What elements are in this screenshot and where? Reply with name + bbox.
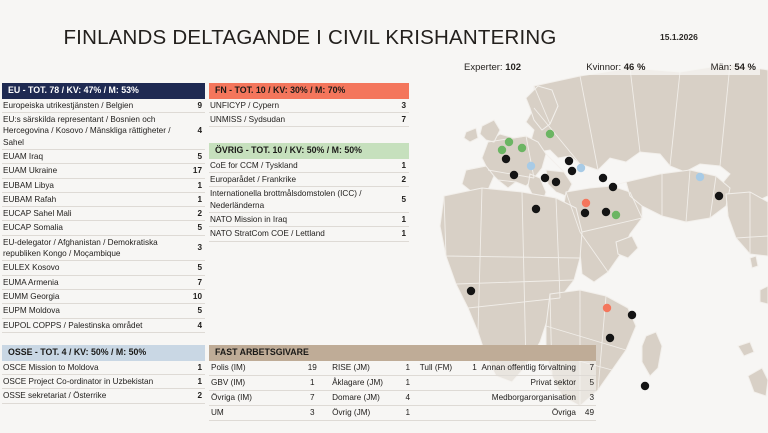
dot-mali <box>467 287 475 295</box>
list-item-label: UNMISS / Sydsudan <box>209 114 391 125</box>
list-item-label: EUBAM Rafah <box>2 194 187 205</box>
list-item: EU-delegator / Afghanistan / Demokratisk… <box>2 236 205 262</box>
dot-latvia <box>546 130 554 138</box>
panel-ovrig-heading: ÖVRIG - TOT. 10 / KV: 50% / M: 50% <box>209 143 409 159</box>
table-cell-c2: 7 <box>294 390 330 405</box>
table-cell-c8: 49 <box>580 405 596 420</box>
panel-osse: OSSE - TOT. 4 / KV: 50% / M: 50% OSCE Mi… <box>2 345 205 404</box>
table-row: Övriga (IM)7Domare (JM)4Medborgarorganis… <box>209 390 596 405</box>
list-item: EUCAP Sahel Mali2 <box>2 207 205 221</box>
table-cell-c1: Polis (IM) <box>209 361 294 376</box>
table-cell-c3: RISE (JM) <box>330 361 398 376</box>
table-row: GBV (IM)1Åklagare (JM)1Privat sektor5 <box>209 375 596 390</box>
list-item-label: EU-delegator / Afghanistan / Demokratisk… <box>2 237 187 260</box>
list-item-label: EUAM Ukraine <box>2 165 187 176</box>
table-cell-c1: Övriga (IM) <box>209 390 294 405</box>
table-cell-c8: 7 <box>580 361 596 376</box>
stat-man: Män: 54 % <box>711 62 756 73</box>
panel-ovrig: ÖVRIG - TOT. 10 / KV: 50% / M: 50% CoE f… <box>209 143 409 242</box>
list-item-label: NATO StratCom COE / Lettland <box>209 228 391 239</box>
list-item: OSSE sekretariat / Österrike2 <box>2 389 205 403</box>
table-cell-c8: 3 <box>580 390 596 405</box>
dot-belgium-eu <box>502 155 510 163</box>
table-cell-c4: 4 <box>398 390 418 405</box>
list-item: EUAM Ukraine17 <box>2 164 205 178</box>
list-item-label: EUCAP Somalia <box>2 222 187 233</box>
page-title: FINLANDS DELTAGANDE I CIVIL KRISHANTERIN… <box>0 26 620 50</box>
list-item: UNFICYP / Cypern3 <box>209 99 409 113</box>
table-cell-c7: Privat sektor <box>479 375 580 390</box>
list-item: UNMISS / Sydsudan7 <box>209 113 409 127</box>
list-item: CoE for CCM / Tyskland1 <box>209 159 409 173</box>
dot-bosnia <box>541 174 549 182</box>
table-cell-c5: Tull (FM) <box>418 361 470 376</box>
table-cell-c7: Annan offentlig förvaltning <box>479 361 580 376</box>
panel-eu: EU - TOT. 78 / KV: 47% / M: 53% Europeis… <box>2 83 205 333</box>
list-item-label: OSCE Project Co-ordinator in Uzbekistan <box>2 376 187 387</box>
table-cell-c6 <box>469 390 479 405</box>
panel-eu-rows: Europeiska utrikestjänsten / Belgien9EU:… <box>2 99 205 333</box>
dot-belgium <box>498 146 506 154</box>
table-cell-c2: 19 <box>294 361 330 376</box>
list-item: EULEX Kosovo5 <box>2 261 205 275</box>
dot-ukraine <box>568 167 576 175</box>
list-item: EUAM Iraq5 <box>2 150 205 164</box>
table-cell-c2: 1 <box>294 375 330 390</box>
table-cell-c3: Åklagare (JM) <box>330 375 398 390</box>
list-item-label: CoE for CCM / Tyskland <box>209 160 391 171</box>
table-cell-c5 <box>418 390 470 405</box>
dot-iraq <box>602 208 610 216</box>
list-item-count: 9 <box>187 100 205 111</box>
table-cell-c2: 3 <box>294 405 330 420</box>
list-item: EUBAM Libya1 <box>2 179 205 193</box>
list-item-label: Europeiska utrikestjänsten / Belgien <box>2 100 187 111</box>
list-item: Europeiska utrikestjänsten / Belgien9 <box>2 99 205 113</box>
stat-experter: Experter: 102 <box>464 62 521 73</box>
list-item-count: 1 <box>391 160 409 171</box>
list-item-count: 5 <box>187 222 205 233</box>
stat-kvinnor-value: 46 % <box>624 62 646 73</box>
fast-arbetsgivare-table: Polis (IM)19RISE (JM)1Tull (FM)1Annan of… <box>209 361 596 421</box>
list-item-label: EULEX Kosovo <box>2 262 187 273</box>
dot-germany <box>518 144 526 152</box>
list-item-label: EUPM Moldova <box>2 305 187 316</box>
list-item-count: 2 <box>391 174 409 185</box>
list-item-label: OSCE Mission to Moldova <box>2 362 187 373</box>
table-cell-c6 <box>469 405 479 420</box>
table-row: UM3Övrig (JM)1Övriga49 <box>209 405 596 420</box>
dot-georgia <box>599 174 607 182</box>
dot-libya <box>532 205 540 213</box>
panel-fn: FN - TOT. 10 / KV: 30% / M: 70% UNFICYP … <box>209 83 409 127</box>
panel-fn-rows: UNFICYP / Cypern3UNMISS / Sydsudan7 <box>209 99 409 128</box>
table-cell-c4: 1 <box>398 405 418 420</box>
stat-man-label: Män: <box>711 62 732 73</box>
dot-afghanistan <box>715 192 723 200</box>
list-item-count: 3 <box>391 100 409 111</box>
list-item-count: 10 <box>187 291 205 302</box>
table-cell-c7: Övriga <box>479 405 580 420</box>
stat-kvinnor-label: Kvinnor: <box>586 62 621 73</box>
list-item: EU:s särskilda representant / Bosnien oc… <box>2 113 205 150</box>
list-item-count: 1 <box>187 180 205 191</box>
list-item-label: EUBAM Libya <box>2 180 187 191</box>
list-item: EUPOL COPPS / Palestinska området4 <box>2 319 205 333</box>
dot-mocambique <box>641 382 649 390</box>
table-cell-c5 <box>418 375 470 390</box>
list-item: EUCAP Somalia5 <box>2 221 205 235</box>
dot-kosovo <box>552 178 560 186</box>
list-item-count: 4 <box>187 125 205 136</box>
list-item: NATO Mission in Iraq1 <box>209 213 409 227</box>
list-item-label: EUMM Georgia <box>2 291 187 302</box>
dot-iraq-nato <box>612 211 620 219</box>
list-item-count: 7 <box>391 114 409 125</box>
list-item-count: 4 <box>187 320 205 331</box>
table-cell-c3: Övrig (JM) <box>330 405 398 420</box>
dot-congo <box>606 334 614 342</box>
dot-austria <box>527 162 535 170</box>
list-item-label: Internationella brottmålsdomstolen (ICC)… <box>209 188 391 211</box>
panel-ovrig-rows: CoE for CCM / Tyskland1Europarådet / Fra… <box>209 159 409 242</box>
list-item-count: 5 <box>187 262 205 273</box>
table-cell-c8: 5 <box>580 375 596 390</box>
table-cell-c1: UM <box>209 405 294 420</box>
dot-france <box>510 171 518 179</box>
stat-man-value: 54 % <box>734 62 756 73</box>
list-item-count: 3 <box>187 242 205 253</box>
list-item-count: 2 <box>187 390 205 401</box>
list-item-label: UNFICYP / Cypern <box>209 100 391 111</box>
panel-fn-heading: FN - TOT. 10 / KV: 30% / M: 70% <box>209 83 409 99</box>
dot-somalia <box>628 311 636 319</box>
panel-eu-heading: EU - TOT. 78 / KV: 47% / M: 53% <box>2 83 205 99</box>
list-item-count: 2 <box>187 208 205 219</box>
table-cell-c4: 1 <box>398 361 418 376</box>
list-item-count: 5 <box>391 194 409 205</box>
table-cell-c6: 1 <box>469 361 479 376</box>
table-cell-c6 <box>469 375 479 390</box>
list-item: EUMA Armenia7 <box>2 276 205 290</box>
fast-table-body: Polis (IM)19RISE (JM)1Tull (FM)1Annan of… <box>209 361 596 421</box>
list-item-count: 17 <box>187 165 205 176</box>
infographic-page: FINLANDS DELTAGANDE I CIVIL KRISHANTERIN… <box>0 0 768 433</box>
list-item-label: EU:s särskilda representant / Bosnien oc… <box>2 114 187 148</box>
dot-sydsudan <box>603 304 611 312</box>
list-item-count: 7 <box>187 277 205 288</box>
list-item: EUBAM Rafah1 <box>2 193 205 207</box>
stat-experter-label: Experter: <box>464 62 503 73</box>
stat-experter-value: 102 <box>505 62 521 73</box>
list-item: OSCE Mission to Moldova1 <box>2 361 205 375</box>
table-cell-c3: Domare (JM) <box>330 390 398 405</box>
list-item-count: 1 <box>391 214 409 225</box>
panel-fast-heading: FAST ARBETSGIVARE <box>209 345 596 361</box>
list-item-label: EUMA Armenia <box>2 277 187 288</box>
dot-uzbekistan <box>696 173 704 181</box>
list-item-label: EUCAP Sahel Mali <box>2 208 187 219</box>
dot-moldova-osse <box>577 164 585 172</box>
stat-kvinnor: Kvinnor: 46 % <box>586 62 645 73</box>
list-item-count: 5 <box>187 151 205 162</box>
list-item-label: NATO Mission in Iraq <box>209 214 391 225</box>
panel-osse-rows: OSCE Mission to Moldova1OSCE Project Co-… <box>2 361 205 404</box>
list-item-count: 5 <box>187 305 205 316</box>
list-item-count: 1 <box>187 362 205 373</box>
dot-netherlands <box>505 138 513 146</box>
list-item-count: 1 <box>187 376 205 387</box>
table-cell-c7: Medborgarorganisation <box>479 390 580 405</box>
report-date: 15.1.2026 <box>660 32 698 42</box>
table-cell-c4: 1 <box>398 375 418 390</box>
dot-moldova <box>565 157 573 165</box>
panel-fast-arbetsgivare: FAST ARBETSGIVARE Polis (IM)19RISE (JM)1… <box>209 345 596 421</box>
list-item-label: OSSE sekretariat / Österrike <box>2 390 187 401</box>
list-item: Europarådet / Frankrike2 <box>209 173 409 187</box>
list-item-count: 1 <box>187 194 205 205</box>
list-item-label: EUAM Iraq <box>2 151 187 162</box>
list-item: Internationella brottmålsdomstolen (ICC)… <box>209 187 409 213</box>
header-summary-stats: Experter: 102 Kvinnor: 46 % Män: 54 % <box>460 60 760 75</box>
list-item: OSCE Project Co-ordinator in Uzbekistan1 <box>2 375 205 389</box>
list-item: EUMM Georgia10 <box>2 290 205 304</box>
dot-palestine <box>581 209 589 217</box>
table-cell-c1: GBV (IM) <box>209 375 294 390</box>
table-cell-c5 <box>418 405 470 420</box>
dot-cyprus <box>582 199 590 207</box>
list-item-count: 1 <box>391 228 409 239</box>
panel-osse-heading: OSSE - TOT. 4 / KV: 50% / M: 50% <box>2 345 205 361</box>
list-item: NATO StratCom COE / Lettland1 <box>209 227 409 241</box>
table-row: Polis (IM)19RISE (JM)1Tull (FM)1Annan of… <box>209 361 596 376</box>
list-item-label: EUPOL COPPS / Palestinska området <box>2 320 187 331</box>
list-item-label: Europarådet / Frankrike <box>209 174 391 185</box>
dot-armenia <box>609 183 617 191</box>
list-item: EUPM Moldova5 <box>2 304 205 318</box>
